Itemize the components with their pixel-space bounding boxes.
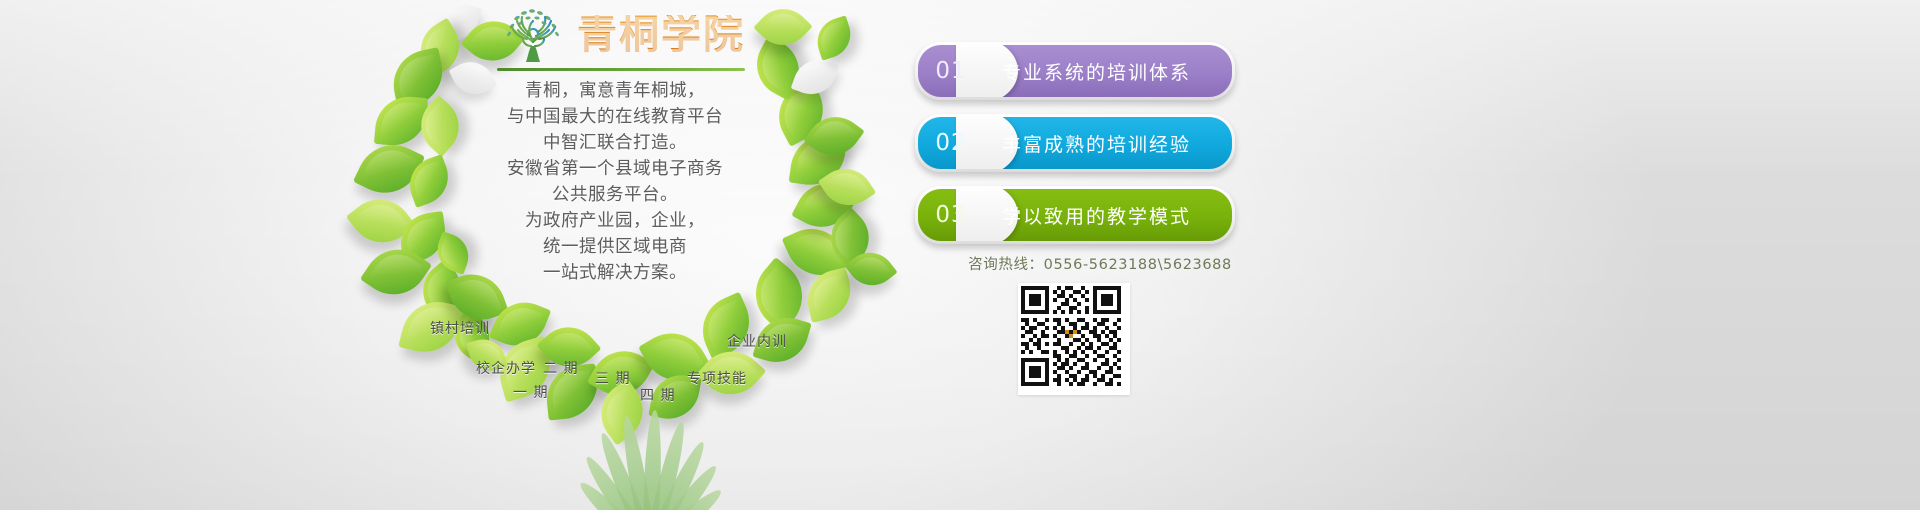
feature-badge-02[interactable]: 02 丰富成熟的培训经验 xyxy=(915,114,1235,172)
feature-badge-label: 专业系统的培训体系 xyxy=(1002,58,1191,85)
description-line: 公共服务平台。 xyxy=(470,182,760,208)
feature-badge-number: 03 xyxy=(918,202,984,228)
description-line: 中智汇联合打造。 xyxy=(470,130,760,156)
description-line: 统一提供区域电商 xyxy=(470,234,760,260)
feature-badge-01[interactable]: 01 专业系统的培训体系 xyxy=(915,42,1235,100)
feature-badge-list: 01 专业系统的培训体系 02 丰富成熟的培训经验 03 学以致用的教学模式 xyxy=(915,42,1235,258)
description-line: 为政府产业园，企业， xyxy=(470,208,760,234)
caption-phase-4: 四 期 xyxy=(640,385,675,405)
grass-decoration xyxy=(520,400,780,510)
hotline-text: 咨询热线：0556-5623188\5623688 xyxy=(950,253,1250,274)
description-line: 青桐，寓意青年桐城， xyxy=(470,78,760,104)
feature-badge-label: 学以致用的教学模式 xyxy=(1002,202,1191,229)
description-line: 安徽省第一个县域电子商务 xyxy=(470,156,760,182)
description-line: 一站式解决方案。 xyxy=(470,260,760,286)
caption-phase-1: 一 期 xyxy=(513,382,548,402)
qr-code[interactable] xyxy=(1018,283,1130,395)
feature-badge-label: 丰富成熟的培训经验 xyxy=(1002,130,1191,157)
logo-underline xyxy=(497,68,745,71)
feature-badge-03[interactable]: 03 学以致用的教学模式 xyxy=(915,186,1235,244)
caption-school-enterprise: 校企办学 xyxy=(476,358,536,378)
logo-title: 青桐学院 xyxy=(577,15,745,55)
feature-badge-number: 02 xyxy=(918,130,984,156)
brand-logo: 青桐学院 xyxy=(497,4,757,71)
caption-phase-3: 三 期 xyxy=(595,368,630,388)
caption-special-skills: 专项技能 xyxy=(687,368,747,388)
caption-village-training: 镇村培训 xyxy=(430,318,490,338)
brand-description: 青桐，寓意青年桐城， 与中国最大的在线教育平台 中智汇联合打造。 安徽省第一个县… xyxy=(470,78,760,286)
banner-root: 青桐学院 青桐，寓意青年桐城， 与中国最大的在线教育平台 中智汇联合打造。 安徽… xyxy=(0,0,1920,510)
feature-badge-number: 01 xyxy=(918,58,984,84)
caption-phase-2: 二 期 xyxy=(543,358,578,378)
description-line: 与中国最大的在线教育平台 xyxy=(470,104,760,130)
caption-enterprise-training: 企业内训 xyxy=(727,331,787,351)
tree-logo-icon xyxy=(497,6,569,64)
